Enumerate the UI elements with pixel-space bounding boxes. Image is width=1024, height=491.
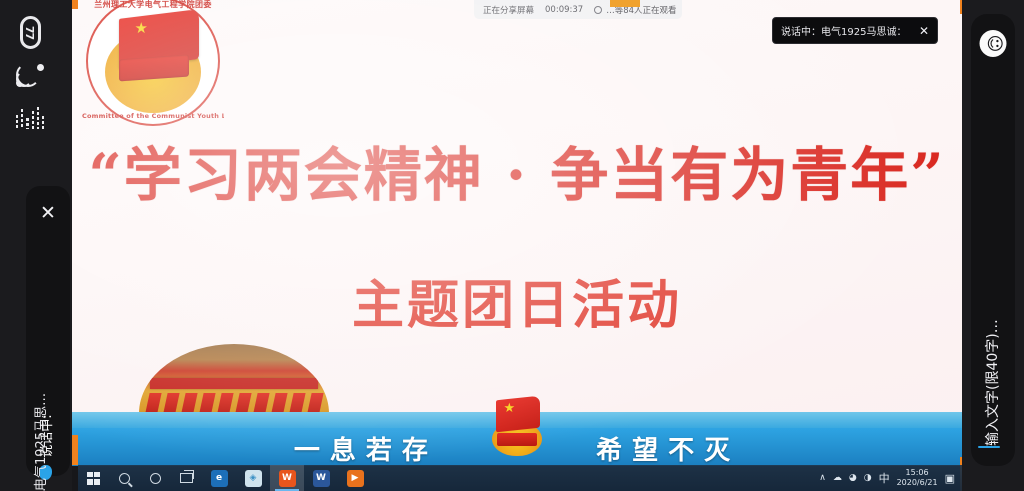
taskbar-app-media[interactable]: ▶ — [338, 465, 372, 491]
emoji-icon[interactable]: ☺ — [980, 30, 1007, 57]
taskbar-clock[interactable]: 15:06 2020/6/21 — [897, 468, 938, 488]
message-input[interactable]: 输入文字(限40字)… — [970, 250, 1014, 450]
cortana-button[interactable] — [140, 465, 171, 491]
windows-taskbar: e ◈ W W ▶ ∧ ☁ ◕ ◑ 中 15:06 2020/6/21 — [78, 465, 962, 491]
browser-app-icon: e — [211, 470, 228, 487]
taskbar-app-wps[interactable]: W — [270, 465, 304, 491]
speaking-toast[interactable]: 说话中：电气1925马思诚： ✕ — [772, 17, 938, 44]
word-app-icon: W — [313, 470, 330, 487]
left-rail-icons: 77 — [8, 16, 52, 129]
taskbar-app-cloud[interactable]: ◈ — [236, 465, 270, 491]
speaking-toast-label: 说话中：电气1925马思诚： — [781, 23, 906, 38]
start-button[interactable] — [78, 465, 109, 491]
notification-icon[interactable]: ▣ — [945, 472, 955, 485]
emblem-star-icon: ★ — [135, 21, 150, 36]
taskbar-date: 2020/6/21 — [897, 478, 938, 488]
wps-app-icon: W — [279, 470, 296, 487]
emblem-chinese-text: 兰州理工大学电气工程学院团委 — [82, 0, 224, 10]
ime-indicator[interactable]: 中 — [879, 470, 890, 486]
equalizer-icon — [16, 103, 44, 129]
share-status-group: 正在分享屏幕 — [483, 4, 534, 16]
taskbar-time: 15:06 — [897, 468, 938, 478]
banner-league-badge-icon: ★ — [489, 398, 545, 460]
people-icon — [594, 6, 602, 14]
slide-title: “学习两会精神 · 争当有为青年” — [72, 141, 962, 209]
cortana-icon — [150, 473, 161, 484]
right-rail: ☺ 输入文字(限40字)… — [962, 0, 1024, 491]
frame-accent-left — [72, 0, 78, 9]
slide-bottom-banner: 一息若存 希望不灭 ★ — [72, 412, 962, 466]
search-icon — [119, 473, 130, 484]
broadcast-icon — [15, 63, 45, 89]
banner-slogan-right: 希望不灭 — [596, 430, 740, 466]
task-view-button[interactable] — [171, 465, 202, 491]
share-timer: 00:09:37 — [545, 5, 583, 15]
taskbar-app-browser[interactable]: e — [202, 465, 236, 491]
speaker-name-strip: 电气1925马思… — [30, 321, 52, 491]
slide-subtitle: 主题团日活动 — [72, 275, 962, 337]
emblem-english-text: Committee of the Communist Youth League — [82, 112, 224, 120]
chat-input-panel[interactable]: ☺ 输入文字(限40字)… — [971, 14, 1015, 466]
windows-icon — [87, 472, 100, 485]
text-caret — [978, 446, 1000, 448]
cloud-icon[interactable]: ☁ — [833, 473, 842, 483]
taskbar-left: e ◈ W W ▶ — [78, 465, 372, 491]
close-icon[interactable]: ✕ — [919, 24, 929, 38]
shared-screen-slide[interactable]: 兰州理工大学电气工程学院团委 ★ Committee of the Commun… — [72, 0, 962, 466]
screen-share-status-bar: 正在分享屏幕 00:09:37 …等84人正在观看 — [474, 0, 682, 19]
tray-app-icon[interactable]: ◕ — [849, 473, 857, 483]
search-button[interactable] — [109, 465, 140, 491]
frame-accent-left-lower — [72, 435, 78, 465]
battery-level-label: 77 — [24, 26, 37, 39]
taskbar-app-word[interactable]: W — [304, 465, 338, 491]
chevron-up-icon[interactable]: ∧ — [819, 473, 826, 483]
task-view-icon — [180, 473, 193, 483]
screen-share-app: 77 ✕ ·· 说话中: 15:06 电气1925马思… 兰州理工大学电气 — [0, 0, 1024, 491]
volume-icon[interactable]: ◑ — [864, 473, 872, 483]
left-rail: 77 ✕ ·· 说话中: 15:06 电气1925马思… — [0, 0, 72, 491]
cloud-app-icon: ◈ — [245, 470, 262, 487]
share-status-label: 正在分享屏幕 — [483, 4, 534, 16]
battery-icon: 77 — [20, 16, 41, 49]
close-icon[interactable]: ✕ — [37, 202, 59, 224]
youth-league-emblem-icon: 兰州理工大学电气工程学院团委 ★ Committee of the Commun… — [82, 0, 224, 130]
frame-accent-top — [610, 0, 640, 7]
system-tray: ∧ ☁ ◕ ◑ 中 15:06 2020/6/21 ▣ — [819, 468, 962, 488]
banner-slogan-left: 一息若存 — [294, 430, 438, 466]
media-app-icon: ▶ — [347, 470, 364, 487]
